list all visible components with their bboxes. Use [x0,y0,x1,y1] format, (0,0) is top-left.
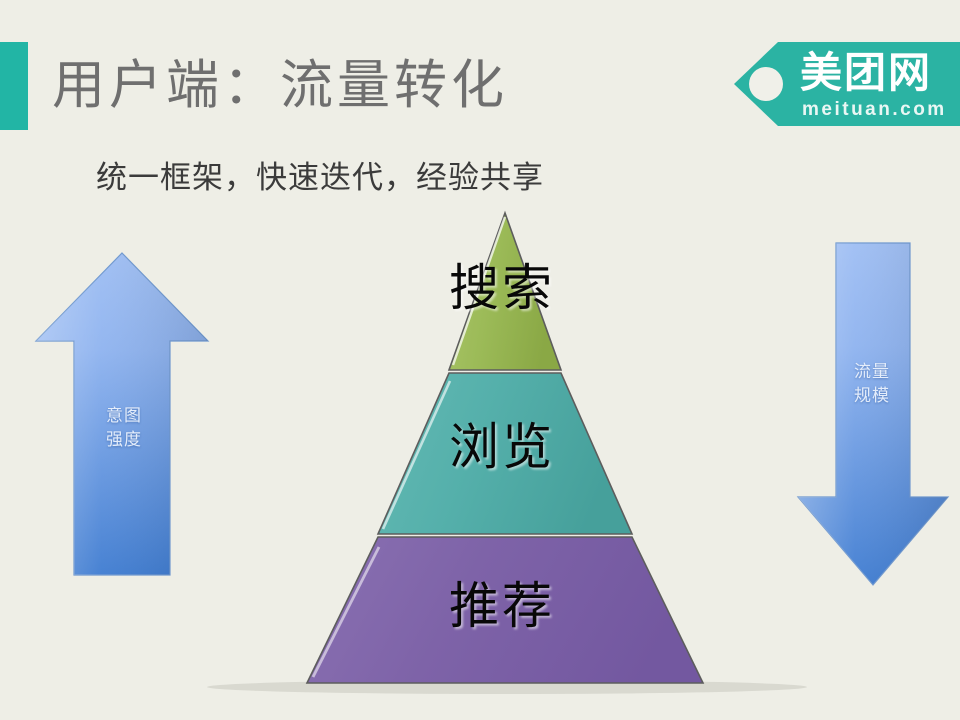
arrow-up-label: 意图 强度 [92,404,156,452]
logo-wordmark: 美团网 [800,48,950,100]
arrow-down-label-line1: 流量 [840,360,904,384]
subtitle: 统一框架，快速迭代，经验共享 [96,157,544,199]
arrow-up-label-line1: 意图 [92,404,156,428]
pyramid-tier-3-label: 推荐 [402,575,602,637]
arrow-up-label-line2: 强度 [92,428,156,452]
arrow-down-label-line2: 规模 [840,384,904,408]
pyramid-tier-1-label: 搜索 [402,257,602,319]
arrow-down-label: 流量 规模 [840,360,904,408]
slide-canvas: 用户端：流量转化 统一框架，快速迭代，经验共享 美团网 meituan.com [0,0,960,720]
logo-domain-text: meituan.com [802,99,947,121]
page-title: 用户端：流量转化 [52,46,508,126]
title-accent-bar [0,42,28,130]
pyramid-tier-2-label: 浏览 [402,416,602,478]
